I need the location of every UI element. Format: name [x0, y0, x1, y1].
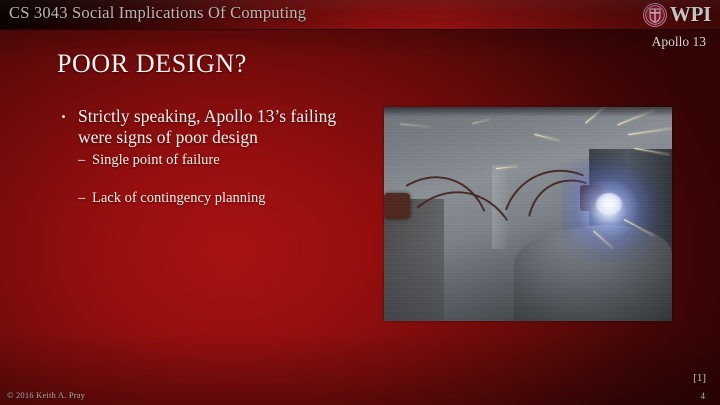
sub-bullet-item: – Lack of contingency planning: [78, 189, 368, 207]
bullet-dash-icon: –: [78, 189, 85, 207]
slide-header-bar: CS 3043 Social Implications Of Computing…: [0, 0, 720, 29]
bullet-item: Strictly speaking, Apollo 13’s failing w…: [58, 106, 368, 148]
course-title: CS 3043 Social Implications Of Computing: [9, 3, 306, 23]
slide-number: 4: [701, 391, 706, 401]
wpi-wordmark: WPI: [670, 4, 711, 25]
bullet-text: Strictly speaking, Apollo 13’s failing w…: [78, 106, 336, 147]
deck-subtitle: Apollo 13: [652, 34, 706, 50]
bullet-dot-icon: [62, 115, 65, 118]
photo-connector: [384, 193, 410, 219]
sub-bullet-text: Lack of contingency planning: [92, 190, 266, 206]
apollo-13-electrical-arc-photo: [384, 107, 672, 321]
photo-electrical-arc-core: [596, 193, 622, 215]
presentation-slide: CS 3043 Social Implications Of Computing…: [0, 0, 720, 405]
sub-bullet-item: – Single point of failure: [78, 151, 368, 169]
slide-title: POOR DESIGN?: [57, 49, 247, 79]
citation-marker: [1]: [693, 372, 706, 384]
photo-top-shadow: [384, 107, 672, 117]
bullet-dash-icon: –: [78, 151, 85, 169]
footer-copyright: © 2016 Keith A. Pray: [7, 390, 85, 400]
slide-body-bullets: Strictly speaking, Apollo 13’s failing w…: [58, 106, 368, 207]
wpi-seal-icon: [643, 3, 667, 27]
sub-bullet-text: Single point of failure: [92, 152, 220, 168]
wpi-logo: WPI: [643, 2, 711, 27]
